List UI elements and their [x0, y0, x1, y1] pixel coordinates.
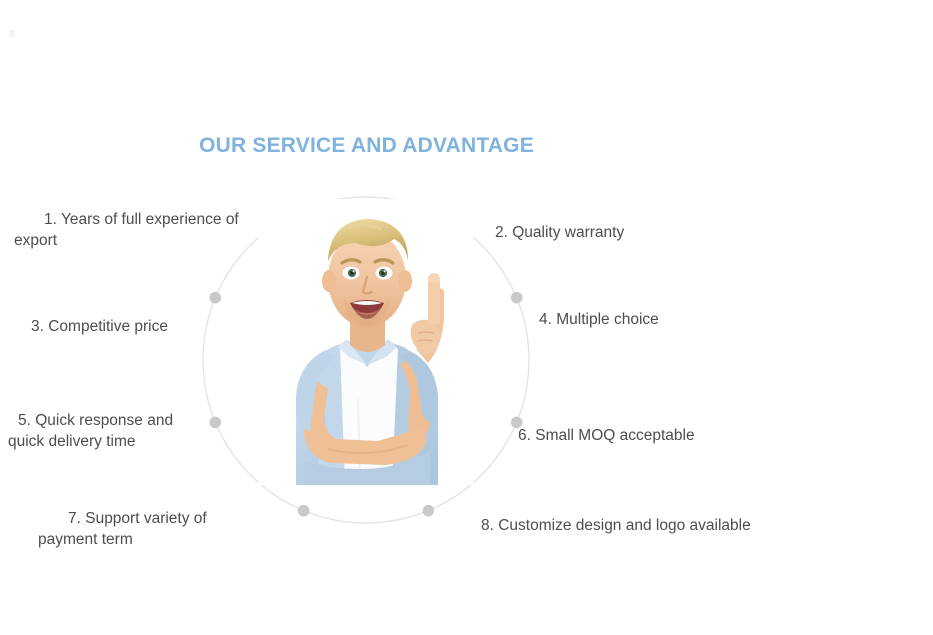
- service-item-3-text: 3. Competitive price: [31, 318, 168, 335]
- node-dot-7: [209, 417, 221, 429]
- service-item-5-text: 5. Quick response and quick delivery tim…: [8, 412, 173, 450]
- service-item-6: 6. Small MOQ acceptable: [518, 425, 798, 446]
- node-dot-8: [209, 292, 221, 304]
- service-advantage-infographic: OUR SERVICE AND ADVANTAGE: [0, 0, 933, 635]
- service-item-2-text: 2. Quality warranty: [495, 224, 624, 241]
- service-item-3: 3. Competitive price: [14, 316, 204, 337]
- service-item-8-text: 8. Customize design and logo available: [481, 517, 751, 534]
- service-item-4: 4. Multiple choice: [539, 309, 799, 330]
- service-item-1: 1. Years of full experience of export: [14, 209, 254, 251]
- page-title: OUR SERVICE AND ADVANTAGE: [0, 134, 733, 158]
- service-item-5: 5. Quick response and quick delivery tim…: [8, 410, 204, 452]
- center-photo: [258, 199, 473, 485]
- service-item-7-text: 7. Support variety of payment term: [38, 510, 207, 548]
- service-item-4-text: 4. Multiple choice: [539, 311, 659, 328]
- service-item-2: 2. Quality warranty: [495, 222, 755, 243]
- service-item-6-text: 6. Small MOQ acceptable: [518, 427, 695, 444]
- service-item-1-text: 1. Years of full experience of export: [14, 211, 239, 249]
- node-dot-3: [511, 292, 523, 304]
- service-item-7: 7. Support variety of payment term: [38, 508, 246, 550]
- service-item-8: 8. Customize design and logo available: [481, 515, 761, 536]
- smiling-man-pointing-up-image: [258, 199, 473, 485]
- corner-artifact-mark: [9, 30, 14, 37]
- node-dot-6: [298, 505, 310, 517]
- node-dot-5: [423, 505, 435, 517]
